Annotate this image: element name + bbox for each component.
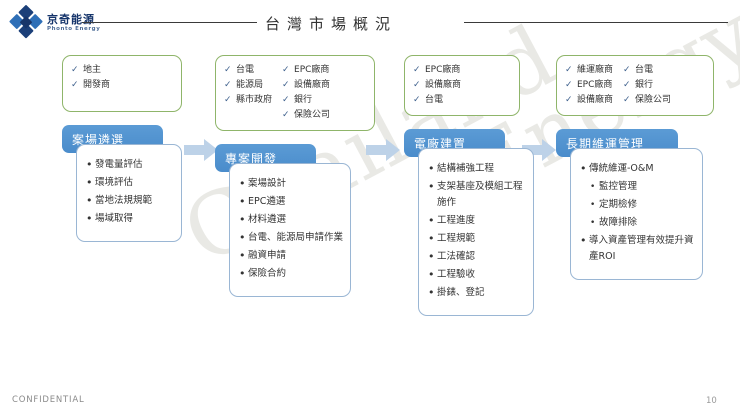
stakeholder-item: ✓台電 <box>413 94 461 107</box>
bullet-icon: • <box>239 212 248 228</box>
stakeholder-item: ✓台電 <box>224 64 272 77</box>
flow-arrow-2-icon <box>366 139 400 161</box>
stage-task-item: •場域取得 <box>86 211 174 227</box>
stage-task-label: 案場設計 <box>248 176 343 192</box>
stage-task-label: 導入資產管理有效提升資產ROI <box>589 233 695 265</box>
stakeholder-item: ✓設備廠商 <box>413 79 461 92</box>
stakeholder-box: ✓EPC廠商✓設備廠商✓台電 <box>404 55 520 116</box>
stakeholder-label: 開發商 <box>83 79 110 92</box>
stakeholder-item: ✓台電 <box>623 64 671 77</box>
check-icon: ✓ <box>282 94 289 107</box>
stage-detail-card: •結構補強工程•支架基座及模組工程施作•工程進度•工程規範•工法確認•工程驗收•… <box>418 148 534 316</box>
bullet-icon: • <box>428 161 437 177</box>
bullet-icon: • <box>86 211 95 227</box>
page-title: 台灣市場概況 <box>265 13 397 34</box>
check-icon: ✓ <box>224 79 231 92</box>
stage-task-label: 工程規範 <box>437 231 526 247</box>
stakeholder-group: ✓台電✓能源局✓縣市政府 <box>224 64 272 122</box>
stakeholder-label: 設備廠商 <box>425 79 461 92</box>
stakeholder-label: 台電 <box>425 94 443 107</box>
stage-task-label: 材料遴選 <box>248 212 343 228</box>
stage-detail-card: •案場設計•EPC遴選•材料遴選•台電、能源局申請作業•融資申請•保險合約 <box>229 163 351 297</box>
stakeholder-box: ✓地主✓開發商 <box>62 55 182 112</box>
stage-task-label: 定期檢修 <box>599 197 695 213</box>
bullet-icon: • <box>580 161 589 177</box>
stage-task-item: •掛錶、登記 <box>428 285 526 301</box>
stage-task-item: •工程進度 <box>428 213 526 229</box>
stage-task-label: 故障排除 <box>599 215 695 231</box>
stage-task-item: •EPC遴選 <box>239 194 343 210</box>
stage-task-label: 工程進度 <box>437 213 526 229</box>
check-icon: ✓ <box>565 79 572 92</box>
stage-task-label: 保險合約 <box>248 266 343 282</box>
stage-task-label: 當地法規規範 <box>95 193 174 209</box>
stage-task-label: 結構補強工程 <box>437 161 526 177</box>
bullet-icon: • <box>86 175 95 191</box>
stage-task-label: 環境評估 <box>95 175 174 191</box>
stage-task-label: EPC遴選 <box>248 194 343 210</box>
stakeholder-item: ✓縣市政府 <box>224 94 272 107</box>
stage-task-item: •傳統維運-O&M <box>580 161 695 177</box>
logo-chinese-name: 京奇能源 <box>47 14 100 25</box>
stage-task-label: 台電、能源局申請作業 <box>248 230 343 246</box>
bullet-icon: • <box>590 197 599 213</box>
bullet-icon: • <box>580 233 589 265</box>
stage-task-item: •發電量評估 <box>86 157 174 173</box>
stakeholder-group: ✓EPC廠商✓設備廠商✓銀行✓保險公司 <box>282 64 330 122</box>
stakeholder-item: ✓保險公司 <box>282 109 330 122</box>
stage-task-item: •監控管理 <box>580 179 695 195</box>
stage-task-item: •案場設計 <box>239 176 343 192</box>
bullet-icon: • <box>428 267 437 283</box>
stakeholder-item: ✓銀行 <box>282 94 330 107</box>
stage-task-label: 工法確認 <box>437 249 526 265</box>
stakeholder-label: 銀行 <box>635 79 653 92</box>
slide-header: 京奇能源 Phonto Energy 台灣市場概況 <box>0 0 740 48</box>
stage-task-item: •環境評估 <box>86 175 174 191</box>
stage-task-label: 場域取得 <box>95 211 174 227</box>
check-icon: ✓ <box>565 94 572 107</box>
logo-diamond-icon <box>6 3 46 43</box>
check-icon: ✓ <box>413 64 420 77</box>
stakeholder-box: ✓維運廠商✓EPC廠商✓設備廠商✓台電✓銀行✓保險公司 <box>556 55 714 116</box>
check-icon: ✓ <box>71 79 78 92</box>
check-icon: ✓ <box>565 64 572 77</box>
bullet-icon: • <box>239 230 248 246</box>
stakeholder-label: 設備廠商 <box>294 79 330 92</box>
flow-stage-project-development: ✓台電✓能源局✓縣市政府✓EPC廠商✓設備廠商✓銀行✓保險公司 專案開發 •案場… <box>215 55 375 297</box>
stage-task-item: •定期檢修 <box>580 197 695 213</box>
stage-task-item: •支架基座及模組工程施作 <box>428 179 526 211</box>
stakeholder-label: EPC廠商 <box>577 79 612 92</box>
stakeholder-label: 保險公司 <box>294 109 330 122</box>
stakeholder-item: ✓EPC廠商 <box>413 64 461 77</box>
check-icon: ✓ <box>71 64 78 77</box>
stakeholder-label: 維運廠商 <box>577 64 613 77</box>
stakeholder-label: 台電 <box>236 64 254 77</box>
stakeholder-label: 縣市政府 <box>236 94 272 107</box>
check-icon: ✓ <box>413 94 420 107</box>
bullet-icon: • <box>428 231 437 247</box>
stakeholder-item: ✓設備廠商 <box>282 79 330 92</box>
check-icon: ✓ <box>224 64 231 77</box>
stage-task-item: •融資申請 <box>239 248 343 264</box>
stage-detail-card: •發電量評估•環境評估•當地法規規範•場域取得 <box>76 144 182 242</box>
header-rule-left <box>82 22 257 23</box>
stage-task-label: 支架基座及模組工程施作 <box>437 179 526 211</box>
stakeholder-item: ✓維運廠商 <box>565 64 613 77</box>
stage-task-item: •保險合約 <box>239 266 343 282</box>
stakeholder-label: 地主 <box>83 64 101 77</box>
bullet-icon: • <box>590 215 599 231</box>
stage-task-item: •材料遴選 <box>239 212 343 228</box>
stage-task-label: 工程驗收 <box>437 267 526 283</box>
stakeholder-box: ✓台電✓能源局✓縣市政府✓EPC廠商✓設備廠商✓銀行✓保險公司 <box>215 55 375 131</box>
stakeholder-group: ✓維運廠商✓EPC廠商✓設備廠商 <box>565 64 613 107</box>
check-icon: ✓ <box>282 64 289 77</box>
stakeholder-group: ✓台電✓銀行✓保險公司 <box>623 64 671 107</box>
stage-task-item: •結構補強工程 <box>428 161 526 177</box>
stage-task-label: 掛錶、登記 <box>437 285 526 301</box>
stakeholder-label: 銀行 <box>294 94 312 107</box>
stakeholder-item: ✓能源局 <box>224 79 272 92</box>
bullet-icon: • <box>428 179 437 211</box>
bullet-icon: • <box>86 157 95 173</box>
bullet-icon: • <box>86 193 95 209</box>
logo-english-name: Phonto Energy <box>47 27 100 33</box>
stakeholder-label: 能源局 <box>236 79 263 92</box>
check-icon: ✓ <box>282 109 289 122</box>
stage-task-item: •導入資產管理有效提升資產ROI <box>580 233 695 265</box>
stage-task-label: 融資申請 <box>248 248 343 264</box>
process-flow-diagram: ✓地主✓開發商 案場遴選 •發電量評估•環境評估•當地法規規範•場域取得 ✓台電… <box>0 55 740 375</box>
stage-task-item: •工程規範 <box>428 231 526 247</box>
bullet-icon: • <box>239 176 248 192</box>
header-rule-right <box>464 22 728 23</box>
stage-task-label: 監控管理 <box>599 179 695 195</box>
confidential-label: CONFIDENTIAL <box>12 395 85 405</box>
stage-task-item: •工法確認 <box>428 249 526 265</box>
bullet-icon: • <box>239 266 248 282</box>
stakeholder-group: ✓地主✓開發商 <box>71 64 110 103</box>
check-icon: ✓ <box>623 79 630 92</box>
stage-task-item: •台電、能源局申請作業 <box>239 230 343 246</box>
stage-detail-card: •傳統維運-O&M•監控管理•定期檢修•故障排除•導入資產管理有效提升資產ROI <box>570 148 703 280</box>
check-icon: ✓ <box>282 79 289 92</box>
stakeholder-item: ✓開發商 <box>71 79 110 92</box>
flow-stage-plant-construction: ✓EPC廠商✓設備廠商✓台電 電廠建置 •結構補強工程•支架基座及模組工程施作•… <box>404 55 520 316</box>
stakeholder-item: ✓設備廠商 <box>565 94 613 107</box>
stakeholder-label: 設備廠商 <box>577 94 613 107</box>
check-icon: ✓ <box>623 64 630 77</box>
stage-task-label: 傳統維運-O&M <box>589 161 695 177</box>
page-number: 10 <box>706 396 717 406</box>
bullet-icon: • <box>428 213 437 229</box>
stakeholder-item: ✓EPC廠商 <box>282 64 330 77</box>
stakeholder-item: ✓地主 <box>71 64 110 77</box>
bullet-icon: • <box>428 285 437 301</box>
stakeholder-item: ✓銀行 <box>623 79 671 92</box>
bullet-icon: • <box>239 194 248 210</box>
bullet-icon: • <box>239 248 248 264</box>
bullet-icon: • <box>590 179 599 195</box>
stage-task-item: •工程驗收 <box>428 267 526 283</box>
flow-arrow-1-icon <box>184 139 218 161</box>
check-icon: ✓ <box>224 94 231 107</box>
bullet-icon: • <box>428 249 437 265</box>
stakeholder-label: 保險公司 <box>635 94 671 107</box>
flow-stage-long-term-om: ✓維運廠商✓EPC廠商✓設備廠商✓台電✓銀行✓保險公司 長期維運管理 •傳統維運… <box>556 55 714 280</box>
flow-stage-site-selection: ✓地主✓開發商 案場遴選 •發電量評估•環境評估•當地法規規範•場域取得 <box>62 55 182 242</box>
stakeholder-label: 台電 <box>635 64 653 77</box>
check-icon: ✓ <box>623 94 630 107</box>
stakeholder-item: ✓EPC廠商 <box>565 79 613 92</box>
stakeholder-label: EPC廠商 <box>294 64 329 77</box>
stage-task-label: 發電量評估 <box>95 157 174 173</box>
company-logo: 京奇能源 Phonto Energy <box>12 9 100 37</box>
check-icon: ✓ <box>413 79 420 92</box>
stakeholder-item: ✓保險公司 <box>623 94 671 107</box>
stage-task-item: •當地法規規範 <box>86 193 174 209</box>
stakeholder-label: EPC廠商 <box>425 64 460 77</box>
stakeholder-group: ✓EPC廠商✓設備廠商✓台電 <box>413 64 461 107</box>
stage-task-item: •故障排除 <box>580 215 695 231</box>
